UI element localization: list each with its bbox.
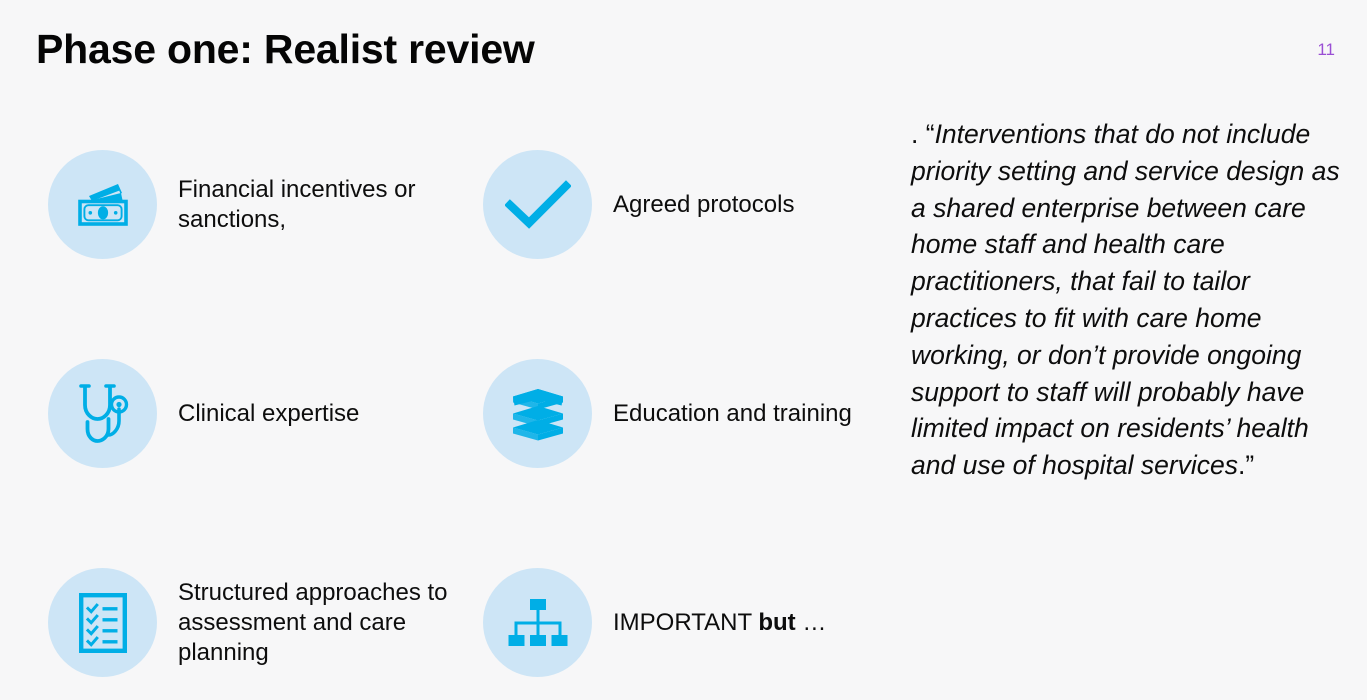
feature-grid: Financial incentives or sanctions, Agree…: [0, 130, 900, 695]
feature-label: Structured approaches to assessment and …: [178, 578, 448, 668]
feature-item-education-training: Education and training: [483, 359, 852, 468]
icon-badge: [48, 359, 157, 468]
feature-label: Financial incentives or sanctions,: [178, 175, 448, 235]
feature-label-suffix: …: [796, 609, 827, 636]
quote-text: Interventions that do not include priori…: [911, 119, 1340, 480]
feature-label-emphasis: but: [758, 609, 795, 636]
quote-closing: .”: [1238, 450, 1254, 480]
books-stack-icon: [509, 387, 567, 441]
page-number: 11: [1317, 40, 1335, 60]
feature-label-prefix: IMPORTANT: [613, 609, 758, 636]
feature-item-financial-incentives: Financial incentives or sanctions,: [48, 150, 448, 259]
banknotes-icon: [72, 180, 134, 230]
icon-badge: [48, 568, 157, 677]
feature-item-important-but: IMPORTANT but …: [483, 568, 826, 677]
feature-item-agreed-protocols: Agreed protocols: [483, 150, 794, 259]
org-chart-icon: [507, 597, 569, 649]
feature-label: IMPORTANT but …: [613, 608, 826, 638]
icon-badge: [483, 359, 592, 468]
quote-lead-in: . “: [911, 119, 935, 149]
feature-label: Education and training: [613, 399, 852, 429]
stethoscope-icon: [75, 383, 131, 445]
checklist-clipboard-icon: [79, 593, 127, 653]
feature-label: Clinical expertise: [178, 399, 359, 429]
icon-badge: [483, 568, 592, 677]
icon-badge: [483, 150, 592, 259]
page-title: Phase one: Realist review: [36, 26, 535, 73]
checkmark-icon: [505, 179, 571, 231]
slide-root: Phase one: Realist review 11 Fi: [0, 0, 1367, 700]
feature-item-structured-approaches: Structured approaches to assessment and …: [48, 568, 448, 677]
quote-block: . “Interventions that do not include pri…: [911, 116, 1341, 484]
icon-badge: [48, 150, 157, 259]
feature-label: Agreed protocols: [613, 190, 794, 220]
feature-item-clinical-expertise: Clinical expertise: [48, 359, 359, 468]
